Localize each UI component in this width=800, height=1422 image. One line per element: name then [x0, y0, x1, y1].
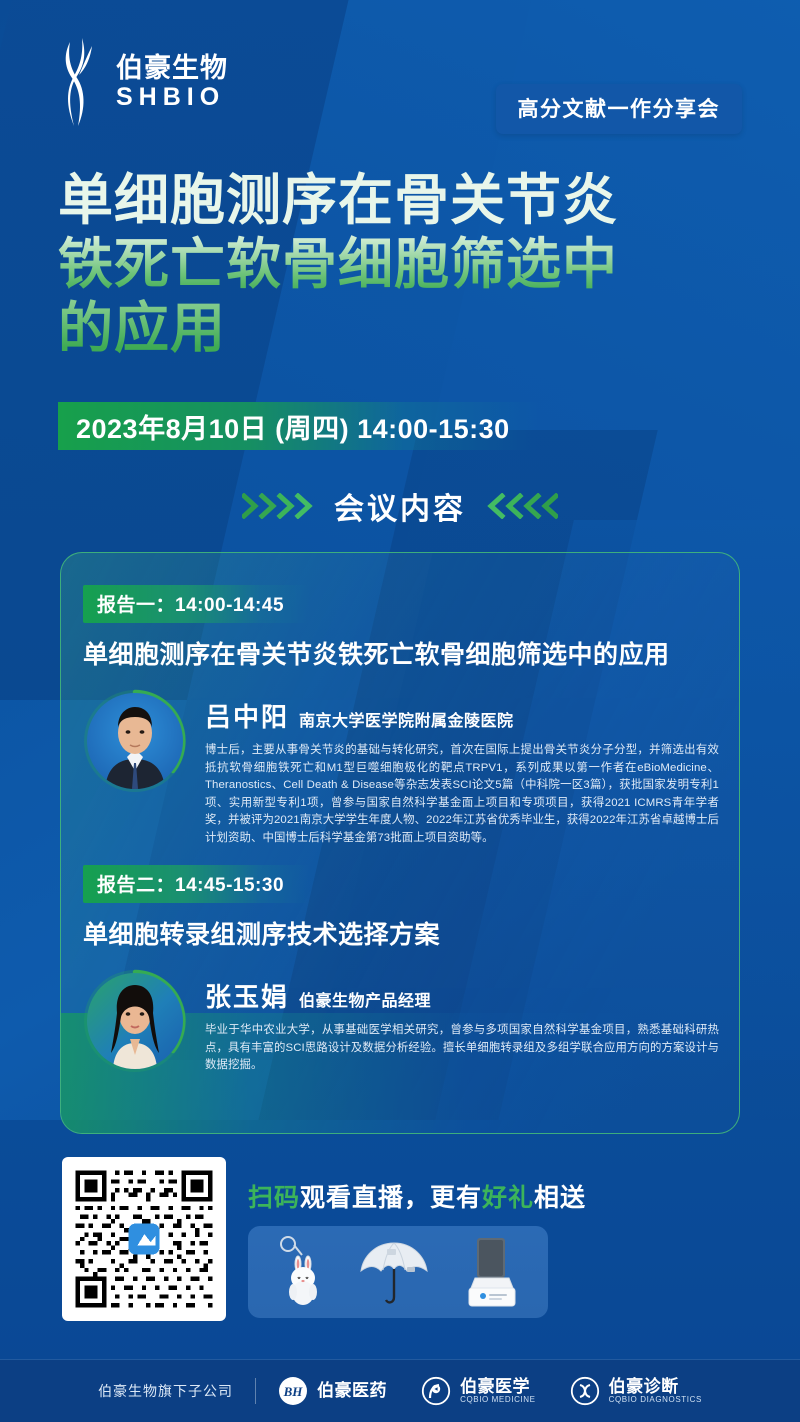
speaker-bio: 博士后，主要从事骨关节炎的基础与转化研究，首次在国际上提出骨关节炎分子分型，并筛… [205, 742, 719, 847]
footer-brand-name-en: CQBIO DIAGNOSTICS [609, 1396, 702, 1405]
svg-text:BH: BH [283, 1384, 304, 1399]
speaker-info: 吕中阳 南京大学医学院附属金陵医院 博士后，主要从事骨关节炎的基础与转化研究，首… [205, 689, 719, 847]
title-line-3: 的应用 [58, 296, 758, 360]
event-date-bar: 2023年8月10日 (周四) 14:00-15:30 [58, 402, 538, 450]
talk-time-badge: 报告二：14:45-15:30 [83, 865, 310, 903]
footer: 伯豪生物旗下子公司 BH 伯豪医药 伯豪医学 CQBIO MEDICINE [0, 1360, 800, 1422]
talk-title: 单细胞测序在骨关节炎铁死亡软骨细胞筛选中的应用 [83, 635, 739, 671]
event-date-text: 2023年8月10日 (周四) 14:00-15:30 [58, 407, 510, 446]
bh-circle-icon: BH [278, 1376, 308, 1406]
speaker-photo [87, 973, 183, 1069]
rabbit-keychain-icon [275, 1235, 329, 1309]
scan-prompt-suffix: 相送 [534, 1184, 586, 1212]
chevrons-left-icon [484, 493, 558, 519]
footer-brand-medicine: 伯豪医学 CQBIO MEDICINE [421, 1376, 536, 1406]
title-line-2: 铁死亡软骨细胞筛选中 [58, 232, 758, 296]
header-badge: 高分文献一作分享会 [496, 84, 743, 134]
qr-code-box[interactable] [62, 1157, 226, 1321]
speaker-affiliation: 伯豪生物产品经理 [299, 987, 431, 1011]
footer-label: 伯豪生物旗下子公司 [98, 1381, 233, 1401]
footer-brand-name-en: CQBIO MEDICINE [460, 1396, 536, 1405]
title-line-1: 单细胞测序在骨关节炎 [58, 168, 758, 232]
brand-name-en: SHBIO [116, 84, 228, 110]
speaker-block: 吕中阳 南京大学医学院附属金陵医院 博士后，主要从事骨关节炎的基础与转化研究，首… [83, 689, 739, 847]
scan-prompt-mid: 观看直播，更有 [300, 1184, 482, 1212]
speaker-photo [87, 693, 183, 789]
speaker-avatar-photo [87, 693, 183, 789]
brand-name-cn: 伯豪生物 [116, 54, 228, 82]
speaker-block: 张玉娟 伯豪生物产品经理 毕业于华中农业大学，从事基础医学相关研究，曾参与多项国… [83, 969, 739, 1075]
talk-item: 报告一：14:00-14:45 单细胞测序在骨关节炎铁死亡软骨细胞筛选中的应用 [61, 585, 739, 847]
talk-item: 报告二：14:45-15:30 单细胞转录组测序技术选择方案 [61, 865, 739, 1075]
avatar [83, 689, 187, 793]
gift-showcase [248, 1226, 548, 1318]
speaker-bio: 毕业于华中农业大学，从事基础医学相关研究，曾参与多项国家自然科学基金项目，熟悉基… [205, 1022, 719, 1075]
avatar [83, 969, 187, 1073]
phone-stand-icon [459, 1234, 521, 1310]
speaker-affiliation: 南京大学医学院附属金陵医院 [299, 707, 514, 731]
speaker-info: 张玉娟 伯豪生物产品经理 毕业于华中农业大学，从事基础医学相关研究，曾参与多项国… [205, 969, 719, 1075]
scan-prompt-gift: 好礼 [482, 1184, 534, 1212]
cqbio-diagnostics-icon [570, 1376, 600, 1406]
scan-prompt: 扫码观看直播，更有好礼相送 [248, 1178, 586, 1214]
dna-helix-leaf-icon [52, 36, 102, 128]
section-heading: 会议内容 [0, 484, 800, 528]
speaker-name: 张玉娟 [205, 977, 289, 1014]
footer-brand-pharma: BH 伯豪医药 [278, 1376, 387, 1406]
agenda-card: 报告一：14:00-14:45 单细胞测序在骨关节炎铁死亡软骨细胞筛选中的应用 [60, 552, 740, 1134]
section-heading-text: 会议内容 [334, 484, 466, 528]
header: 伯豪生物 SHBIO 高分文献一作分享会 [0, 0, 800, 150]
footer-brand-name: 伯豪诊断 [609, 1378, 702, 1396]
qr-code[interactable] [71, 1166, 217, 1312]
chevrons-right-icon [242, 493, 316, 519]
talk-time-badge: 报告一：14:00-14:45 [83, 585, 310, 623]
footer-brand-name: 伯豪医学 [460, 1378, 536, 1396]
poster-title: 单细胞测序在骨关节炎 铁死亡软骨细胞筛选中 的应用 [58, 168, 758, 360]
cqbio-medicine-icon [421, 1376, 451, 1406]
footer-brand-name: 伯豪医药 [317, 1382, 387, 1400]
speaker-name: 吕中阳 [205, 697, 289, 734]
talk-title: 单细胞转录组测序技术选择方案 [83, 915, 739, 951]
brand-logo: 伯豪生物 SHBIO [52, 36, 228, 128]
footer-brand-diagnostics: 伯豪诊断 CQBIO DIAGNOSTICS [570, 1376, 702, 1406]
footer-divider [255, 1378, 256, 1404]
speaker-avatar-photo [87, 973, 183, 1069]
poster-root: 伯豪生物 SHBIO 高分文献一作分享会 单细胞测序在骨关节炎 铁死亡软骨细胞筛… [0, 0, 800, 1422]
umbrella-icon [355, 1235, 433, 1309]
scan-prompt-prefix: 扫码 [248, 1184, 300, 1212]
